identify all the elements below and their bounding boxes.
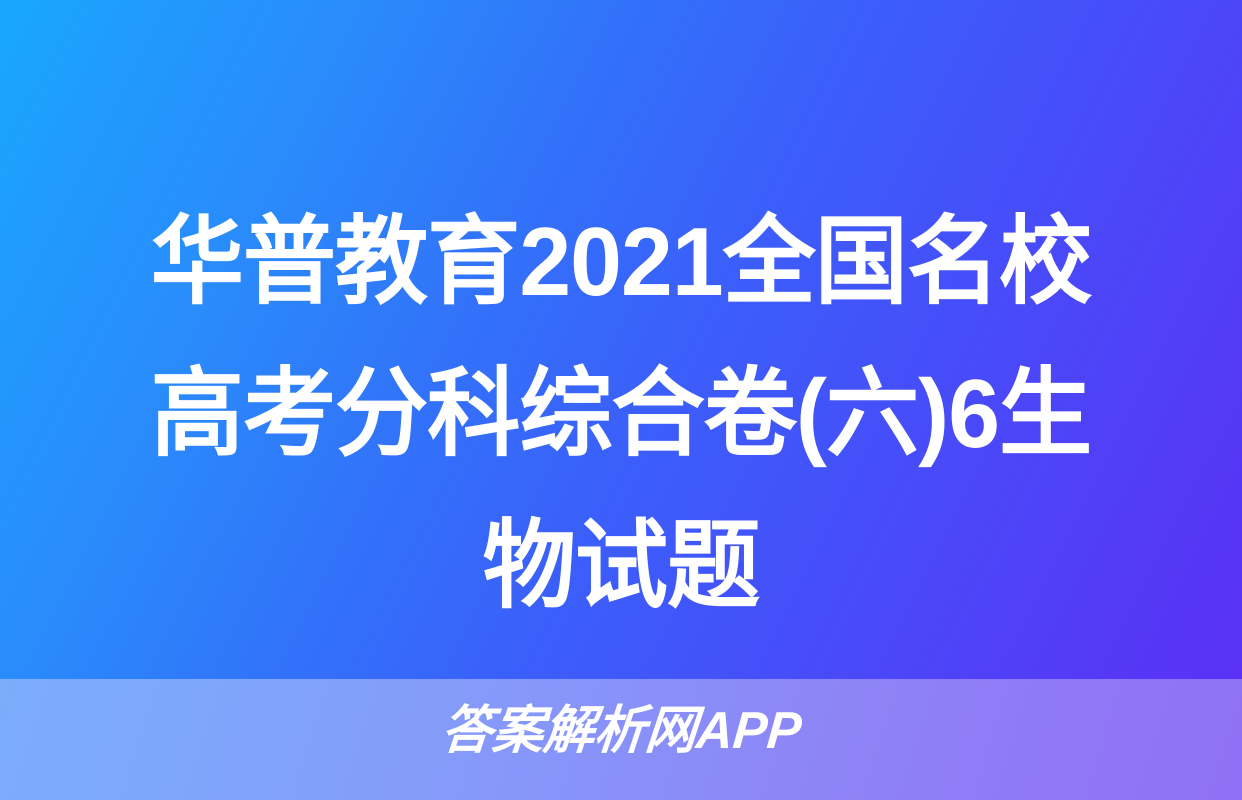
title-line-2: 高考分科综合卷(六)6生: [25, 338, 1217, 490]
watermark: 答案解析网APP: [0, 703, 1242, 759]
watermark-label: 答案解析网APP: [439, 703, 803, 759]
title-line-1: 华普教育2021全国名校: [25, 186, 1217, 338]
title-line-3: 物试题: [25, 490, 1217, 642]
poster-canvas: 华普教育2021全国名校 高考分科综合卷(六)6生 物试题 答案解析网APP: [0, 0, 1242, 800]
poster-title: 华普教育2021全国名校 高考分科综合卷(六)6生 物试题: [0, 186, 1242, 642]
